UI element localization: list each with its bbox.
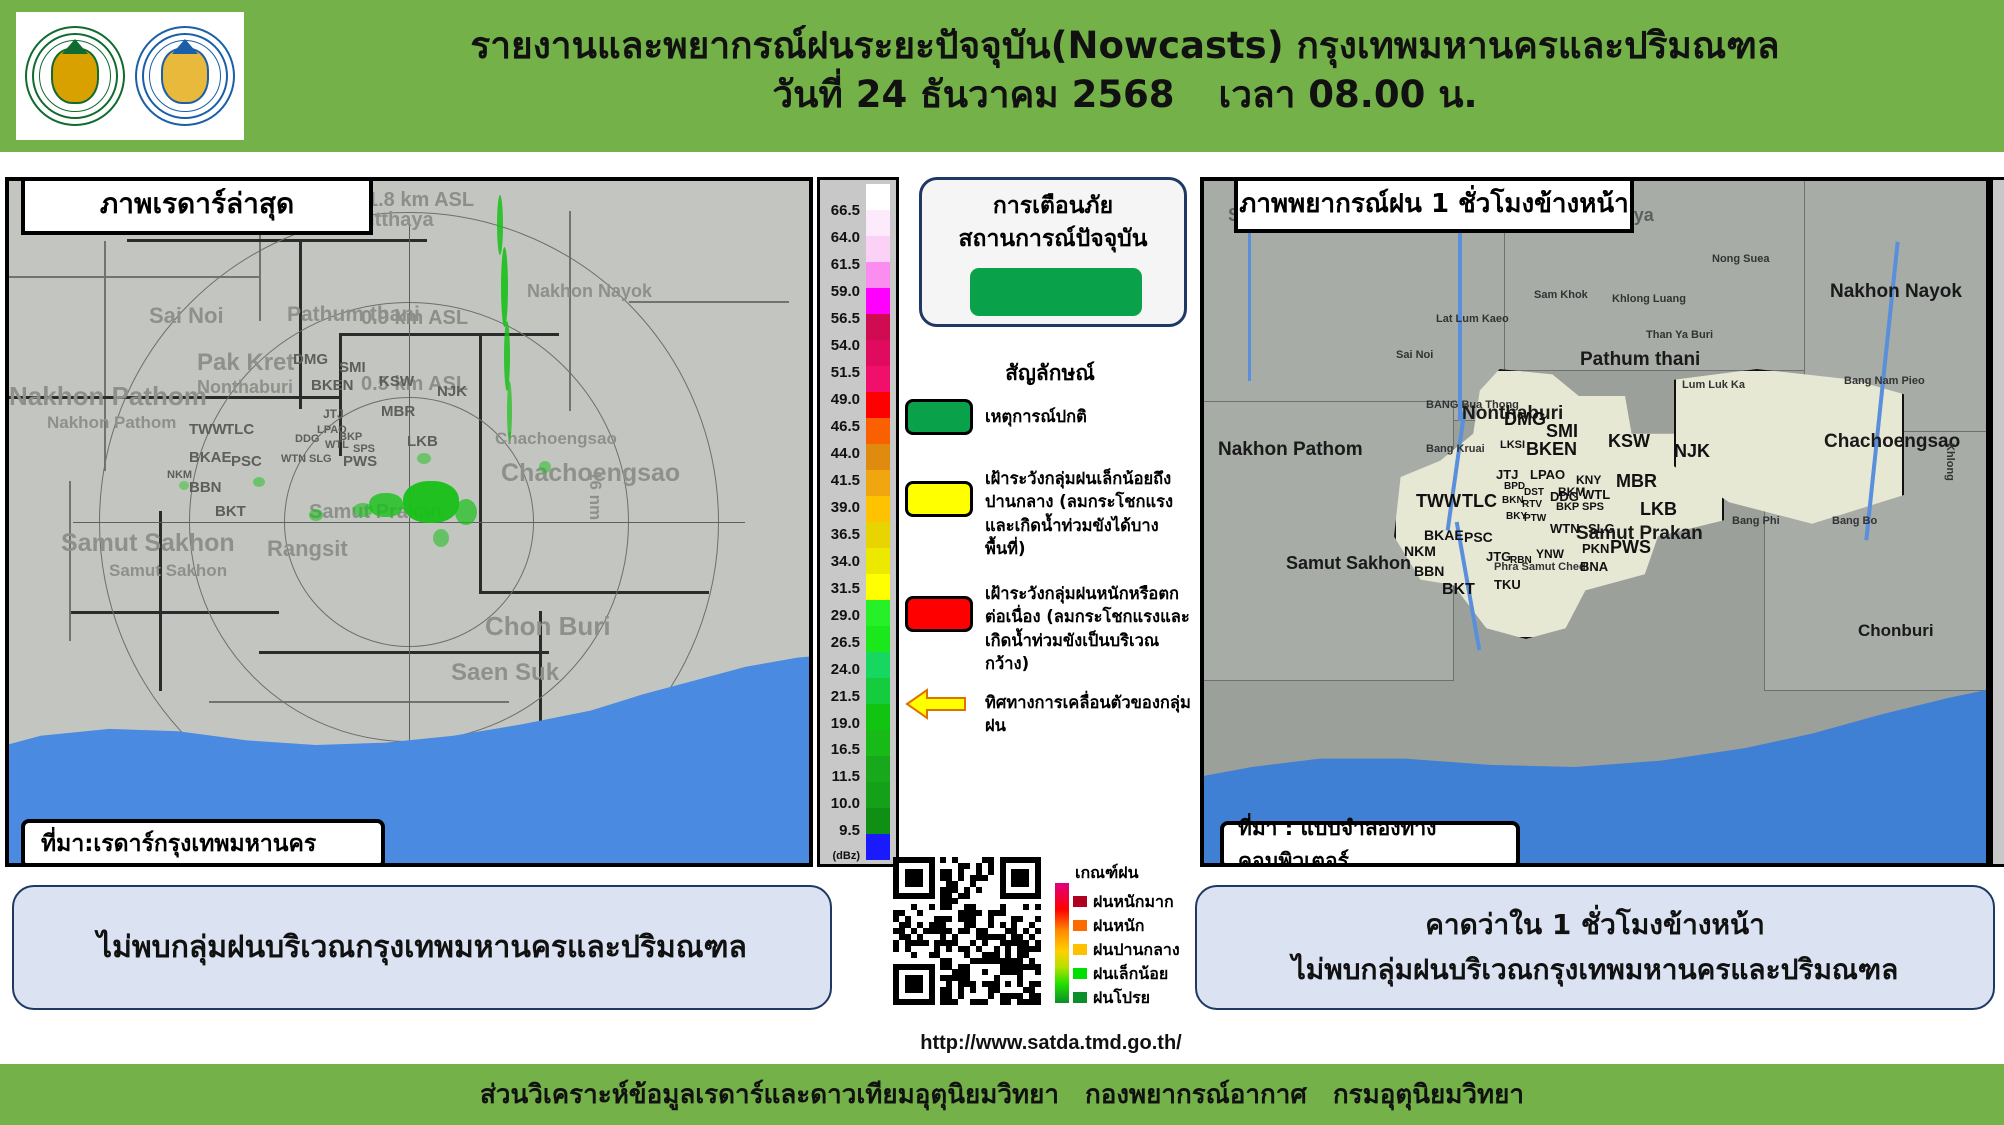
map-label-chonburi: Chonburi — [1858, 621, 1934, 641]
color-scale-tick: 59.0 — [1987, 283, 2004, 300]
district-code-jtj: JTJ — [323, 407, 344, 421]
color-scale-tick: 26.5 — [1987, 634, 2004, 651]
forecast-map: Suphan Buri Phra Nakhon Si Ayutthaya Non… — [1204, 181, 1986, 863]
color-scale-tick: 49.0 — [1987, 391, 2004, 408]
radar-echo — [433, 529, 449, 547]
color-scale-tick: 41.5 — [1987, 472, 2004, 489]
district-code-jtg: JTG — [1486, 549, 1511, 564]
page-title: รายงานและพยากรณ์ฝนระยะปัจจุบัน(Nowcasts)… — [260, 22, 1990, 70]
color-scale-tick: 9.5 — [814, 822, 860, 839]
chao-phraya-river — [1458, 201, 1462, 421]
agency-logos — [16, 12, 244, 140]
radar-echo — [507, 381, 512, 441]
color-scale-tick: 54.0 — [814, 337, 860, 354]
main-content: 1.8 km ASL 0.9 km ASL 0.5 km ASL Suphan … — [0, 152, 2004, 1064]
rain-legend-item: ฝนหนักมาก — [1073, 890, 1203, 914]
map-label-chon-buri: Chon Buri — [485, 611, 611, 642]
radar-panel-source: ที่มา:เรดาร์กรุงเทพมหานคร — [21, 819, 385, 867]
radar-summary-text: ไม่พบกลุ่มฝนบริเวณกรุงเทพมหานครและปริมณฑ… — [97, 924, 747, 972]
district-code-bken: BKEN — [311, 377, 354, 394]
rain-legend-swatch — [1073, 992, 1087, 1003]
radar-echo — [179, 481, 189, 490]
color-scale-tick: 54.0 — [1987, 337, 2004, 354]
color-scale-unit: (dBz) — [1987, 850, 2004, 862]
color-scale-segment — [866, 548, 890, 574]
color-scale-tick: 64.0 — [814, 229, 860, 246]
warning-title-line2: สถานการณ์ปัจจุบัน — [922, 223, 1184, 256]
district-code-nkm: NKM — [167, 469, 192, 481]
map-label-nakhon-pathom: Nakhon Pathom — [9, 381, 207, 412]
warning-card-title: การเตือนภัย สถานการณ์ปัจจุบัน — [922, 190, 1184, 257]
symbols-heading: สัญลักษณ์ — [905, 357, 1195, 390]
map-label-pathum-thani: Pathum thani — [1580, 349, 1700, 371]
district-code-lkb: LKB — [407, 433, 438, 450]
radar-echo — [417, 453, 431, 464]
district-code-bkp: BKP — [339, 431, 362, 443]
color-scale-segment — [866, 418, 890, 444]
district-code-mbr: MBR — [381, 403, 415, 420]
color-scale-tick: 21.5 — [1987, 688, 2004, 705]
forecast-panel-title: ภาพพยากรณ์ฝน 1 ชั่วโมงข้างหน้า — [1234, 177, 1634, 233]
legend-swatch-red — [905, 596, 973, 632]
color-scale-tick: 56.5 — [814, 310, 860, 327]
color-scale-tick: 11.5 — [1987, 768, 2004, 785]
color-scale-segment — [866, 444, 890, 470]
map-label-sam-khok: Sam Khok — [1534, 289, 1588, 301]
map-label-samut-sakhon-2: Samut Sakhon — [109, 561, 227, 581]
forecast-summary-line2: ไม่พบกลุ่มฝนบริเวณกรุงเทพมหานครและปริมณฑ… — [1292, 948, 1899, 993]
color-scale-tick: 24.0 — [1987, 661, 2004, 678]
district-code-bkn: BKN — [1502, 495, 1524, 506]
forecast-panel-source: ที่มา : แบบจำลองทางคอมพิวเตอร์ — [1220, 821, 1520, 867]
district-code-bna: BNA — [1580, 559, 1608, 574]
header-titles: รายงานและพยากรณ์ฝนระยะปัจจุบัน(Nowcasts)… — [260, 22, 1990, 120]
warning-status-card: การเตือนภัย สถานการณ์ปัจจุบัน — [919, 177, 1187, 327]
map-label-samut-sakhon: Samut Sakhon — [61, 529, 235, 558]
district-code-bkp: BKP — [1556, 501, 1579, 513]
district-code-bkae: BKAE — [1424, 527, 1464, 543]
radar-map: 1.8 km ASL 0.9 km ASL 0.5 km ASL Suphan … — [9, 181, 809, 863]
footer-part1: ส่วนวิเคราะห์ข้อมูลเรดาร์และดาวเทียมอุตุ… — [480, 1080, 1059, 1110]
district-code-wtn: WTN — [1550, 521, 1580, 536]
color-scale-tick: 64.0 — [1987, 229, 2004, 246]
page-header: รายงานและพยากรณ์ฝนระยะปัจจุบัน(Nowcasts)… — [0, 0, 2004, 152]
district-code-pkn: PKN — [1582, 541, 1609, 556]
forecast-summary-text: คาดว่าใน 1 ชั่วโมงข้างหน้า ไม่พบกลุ่มฝนบ… — [1292, 903, 1899, 993]
tributary-river — [1248, 221, 1251, 381]
color-scale-segment — [866, 496, 890, 522]
district-code-dmg: DMG — [293, 351, 328, 368]
color-scale-tick: 19.0 — [1987, 715, 2004, 732]
nowcast-page: รายงานและพยากรณ์ฝนระยะปัจจุบัน(Nowcasts)… — [0, 0, 2004, 1125]
status-badge — [970, 268, 1142, 316]
radar-color-scale-left: 66.564.061.559.056.554.051.549.046.544.0… — [817, 177, 899, 867]
district-code-sps: SPS — [353, 443, 375, 455]
map-label-nakhon-pathom: Nakhon Pathom — [1218, 439, 1363, 461]
legend-label-normal: เหตุการณ์ปกติ — [985, 405, 1195, 428]
map-label-bang-phi: Bang Phi — [1732, 515, 1780, 527]
radar-echo — [369, 493, 403, 517]
tmd-seal-green-icon — [23, 24, 127, 128]
rain-legend-gradient — [1055, 883, 1069, 1003]
rain-legend-label: ฝนเล็กน้อย — [1093, 962, 1168, 987]
district-code-bpd: BPD — [1504, 481, 1525, 492]
forecast-summary-box: คาดว่าใน 1 ชั่วโมงข้างหน้า ไม่พบกลุ่มฝนบ… — [1195, 885, 1995, 1010]
color-scale-tick: 59.0 — [814, 283, 860, 300]
district-code-slg: SLG — [309, 453, 332, 465]
rain-legend-label: ฝนหนัก — [1093, 914, 1144, 939]
district-code-tww: TWW — [1416, 491, 1461, 512]
radar-summary-box: ไม่พบกลุ่มฝนบริเวณกรุงเทพมหานครและปริมณฑ… — [12, 885, 832, 1010]
map-label-saen-suk: Saen Suk — [451, 659, 559, 687]
color-scale-segment — [866, 756, 890, 782]
tmd-seal-blue-icon — [133, 24, 237, 128]
color-scale-tick: 46.5 — [1987, 418, 2004, 435]
color-scale-segment — [866, 600, 890, 626]
color-scale-tick: 51.5 — [1987, 364, 2004, 381]
radar-image-panel[interactable]: 1.8 km ASL 0.9 km ASL 0.5 km ASL Suphan … — [5, 177, 813, 867]
forecast-summary-line1: คาดว่าใน 1 ชั่วโมงข้างหน้า — [1292, 903, 1899, 948]
rain-criteria-legend: เกณฑ์ฝน ฝนหนักมากฝนหนักฝนปานกลางฝนเล็กน้… — [1053, 861, 1203, 1010]
district-code-njk: NJK — [437, 383, 467, 400]
radar-echo — [309, 509, 323, 521]
color-scale-tick: 56.5 — [1987, 310, 2004, 327]
district-code-ksw: KSW — [379, 373, 414, 390]
color-scale-segment — [866, 678, 890, 704]
district-code-lpao: LPAO — [1530, 467, 1565, 482]
district-code-ksw: KSW — [1608, 431, 1650, 452]
district-code-njk: NJK — [1674, 441, 1710, 462]
map-label-bang-kruai: Bang Kruai — [1426, 443, 1485, 455]
color-scale-segment — [866, 626, 890, 652]
color-scale-tick: 39.0 — [1987, 499, 2004, 516]
map-label-chachoengsao: Chachoengsao — [1824, 431, 1960, 453]
color-scale-tick: 51.5 — [814, 364, 860, 381]
rain-legend-item: ฝนปานกลาง — [1073, 938, 1203, 962]
color-scale-tick: 44.0 — [814, 445, 860, 462]
color-scale-tick: 34.0 — [1987, 553, 2004, 570]
district-code-dst: DST — [1524, 487, 1544, 498]
color-scale-tick: 29.0 — [1987, 607, 2004, 624]
color-scale-tick: 21.5 — [814, 688, 860, 705]
header-date: วันที่ 24 ธันวาคม 2568 — [772, 73, 1174, 116]
rain-legend-label: ฝนปานกลาง — [1093, 938, 1180, 963]
color-scale-segment — [866, 782, 890, 808]
district-code-lkb: LKB — [1640, 499, 1677, 520]
district-code-smi: SMI — [339, 359, 366, 376]
rain-legend-swatch — [1073, 896, 1087, 907]
color-scale-tick: 29.0 — [814, 607, 860, 624]
map-label-rangsit: Rangsit — [267, 536, 348, 562]
district-code-ynw: YNW — [1536, 547, 1564, 561]
color-scale-unit: (dBz) — [814, 850, 860, 862]
map-label-nakhon-nayok: Nakhon Nayok — [1830, 281, 1962, 303]
district-code-rtv: RTV — [1522, 499, 1542, 510]
color-scale-tick: 16.5 — [814, 741, 860, 758]
district-code-bbn: BBN — [189, 479, 222, 496]
color-scale-tick: 10.0 — [814, 795, 860, 812]
map-label-khlong: Khlong — [1944, 443, 1956, 481]
color-scale-tick: 24.0 — [814, 661, 860, 678]
rain-legend-swatch — [1073, 920, 1087, 931]
map-label-nong-suea: Nong Suea — [1712, 253, 1769, 265]
district-code-wtn: WTN — [281, 453, 306, 465]
color-scale-tick: 41.5 — [814, 472, 860, 489]
forecast-image-panel[interactable]: Suphan Buri Phra Nakhon Si Ayutthaya Non… — [1200, 177, 1990, 867]
color-scale-segment — [866, 366, 890, 392]
color-scale-segment — [866, 704, 890, 730]
district-code-ddg: DDG — [295, 433, 319, 445]
map-label-nakhon-nayok: Nakhon Nayok — [527, 281, 652, 302]
rain-legend-item: ฝนเล็กน้อย — [1073, 962, 1203, 986]
rain-legend-item: ฝนโปรย — [1073, 986, 1203, 1010]
radar-echo — [403, 481, 459, 523]
color-scale-tick: 11.5 — [814, 768, 860, 785]
legend-swatch-yellow — [905, 481, 973, 517]
map-label-bang-bo: Bang Bo — [1832, 515, 1877, 527]
map-label-khlong-luang: Khlong Luang — [1612, 293, 1686, 305]
district-code-bkt: BKT — [215, 503, 246, 520]
footer-part2: กองพยากรณ์อากาศ — [1085, 1080, 1307, 1110]
district-code-psc: PSC — [231, 453, 262, 470]
district-code-pws: PWS — [343, 453, 377, 470]
header-time: เวลา 08.00 น. — [1219, 73, 1478, 116]
district-code-ptw: PTW — [1524, 513, 1546, 524]
color-scale-tick: 16.5 — [1987, 741, 2004, 758]
color-scale-tick: 36.5 — [814, 526, 860, 543]
color-scale-segment — [866, 184, 890, 210]
radar-echo — [497, 195, 503, 255]
color-scale-tick: 31.5 — [814, 580, 860, 597]
district-code-psc: PSC — [1464, 529, 1493, 545]
radar-echo — [353, 503, 373, 517]
radar-echo — [539, 461, 551, 473]
color-scale-segment — [866, 470, 890, 496]
rain-legend-title: เกณฑ์ฝน — [1075, 861, 1203, 886]
center-legend-column: การเตือนภัย สถานการณ์ปัจจุบัน สัญลักษณ์ … — [905, 177, 1195, 1067]
map-label-than-ya-buri: Than Ya Buri — [1646, 329, 1713, 341]
footer-text: ส่วนวิเคราะห์ข้อมูลเรดาร์และดาวเทียมอุตุ… — [480, 1074, 1524, 1115]
qr-code[interactable] — [893, 857, 1043, 1005]
color-scale-segment — [866, 834, 890, 860]
district-code-nkm: NKM — [1404, 543, 1436, 559]
rain-legend-swatch — [1073, 968, 1087, 979]
color-scale-segment — [866, 392, 890, 418]
color-scale-segment — [866, 288, 890, 314]
color-scale-segment — [866, 652, 890, 678]
color-scale-tick: 44.0 — [1987, 445, 2004, 462]
color-scale-tick: 61.5 — [814, 256, 860, 273]
map-label-sai-noi: Sai Noi — [1396, 349, 1433, 361]
map-label-pathum-thani: Pathum thani — [287, 303, 420, 327]
color-scale-tick: 10.0 — [1987, 795, 2004, 812]
district-code-lksi: LKSI — [1500, 439, 1525, 451]
color-scale-segment — [866, 314, 890, 340]
map-label-lum-luk-ka: Lum Luk Ka — [1682, 379, 1745, 391]
map-label-pak-kret: Pak Kret — [197, 349, 294, 377]
rain-legend-label: ฝนโปรย — [1093, 986, 1150, 1011]
map-label-sai-noi: Sai Noi — [149, 303, 224, 329]
radar-panel-title: ภาพเรดาร์ล่าสุด — [21, 177, 373, 235]
color-scale-tick: 9.5 — [1987, 822, 2004, 839]
color-scale-tick: 26.5 — [814, 634, 860, 651]
radar-echo — [501, 247, 508, 327]
color-scale-tick: 61.5 — [1987, 256, 2004, 273]
color-scale-segment — [866, 522, 890, 548]
radar-color-scale-right: 66.564.061.559.056.554.051.549.046.544.0… — [1990, 177, 2004, 867]
map-label-nakhon-pathom-2: Nakhon Pathom — [47, 413, 176, 433]
qr-and-rain-legend: เกณฑ์ฝน ฝนหนักมากฝนหนักฝนปานกลางฝนเล็กน้… — [893, 857, 1203, 1037]
district-code-wtl: WTL — [1582, 487, 1610, 502]
district-code-tlc: TLC — [225, 421, 254, 438]
district-code-jtj: JTJ — [1496, 467, 1518, 482]
district-code-tww: TWW — [189, 421, 226, 438]
map-label-lat-lum-kaeo: Lat Lum Kaeo — [1436, 313, 1509, 325]
color-scale-tick: 31.5 — [1987, 580, 2004, 597]
color-scale-tick: 46.5 — [814, 418, 860, 435]
color-scale-tick: 19.0 — [814, 715, 860, 732]
color-scale-segment — [866, 262, 890, 288]
legend-swatch-green — [905, 399, 973, 435]
legend-label-watch-heavy: เฝ้าระวังกลุ่มฝนหนักหรือตกต่อเนื่อง (ลมก… — [985, 582, 1195, 676]
footer-part3: กรมอุตุนิยมวิทยา — [1333, 1080, 1524, 1110]
district-code-pws: PWS — [1610, 537, 1651, 558]
district-code-bbn: BBN — [1414, 563, 1444, 579]
color-scale-tick: 49.0 — [814, 391, 860, 408]
color-scale-segment — [866, 730, 890, 756]
color-scale-segment — [866, 210, 890, 236]
color-scale-segment — [866, 574, 890, 600]
map-label-nonthaburi: Nonthaburi — [197, 377, 293, 398]
color-scale-tick: 34.0 — [814, 553, 860, 570]
satda-url[interactable]: http://www.satda.tmd.go.th/ — [891, 1032, 1211, 1055]
district-code-bken: BKEN — [1526, 439, 1577, 460]
map-label-chachoengsao: Chachoengsao — [495, 429, 617, 449]
district-code-bkt: BKT — [1442, 581, 1475, 599]
color-scale-tick: 36.5 — [1987, 526, 2004, 543]
district-code-tlc: TLC — [1462, 491, 1497, 512]
page-footer: ส่วนวิเคราะห์ข้อมูลเรดาร์และดาวเทียมอุตุ… — [0, 1064, 2004, 1125]
legend-label-watch-light-moderate: เฝ้าระวังกลุ่มฝนเล็กน้อยถึงปานกลาง (ลมกร… — [985, 467, 1195, 561]
color-scale-tick: 66.5 — [814, 202, 860, 219]
color-scale-tick: 39.0 — [814, 499, 860, 516]
rain-legend-item: ฝนหนัก — [1073, 914, 1203, 938]
left-arrow-icon — [905, 687, 967, 721]
range-label-16nm: 16 nm — [585, 471, 605, 520]
map-label-samut-sakhon: Samut Sakhon — [1286, 553, 1411, 574]
color-scale-segment — [866, 236, 890, 262]
header-datetime: วันที่ 24 ธันวาคม 2568เวลา 08.00 น. — [260, 70, 1990, 120]
district-code-bkae: BKAE — [189, 449, 232, 466]
radar-echo — [253, 477, 265, 487]
district-code-dmg: DMG — [1504, 409, 1546, 430]
district-code-slg: SLG — [1588, 521, 1615, 536]
warning-title-line1: การเตือนภัย — [922, 190, 1184, 223]
color-scale-segment — [866, 808, 890, 834]
district-code-tku: TKU — [1494, 577, 1521, 592]
color-scale-tick: 66.5 — [1987, 202, 2004, 219]
color-scale-segment — [866, 340, 890, 366]
map-label-bang-nam-pieo: Bang Nam Pieo — [1844, 375, 1925, 387]
district-code-mbr: MBR — [1616, 471, 1657, 492]
color-scale-bar — [866, 184, 890, 860]
rain-legend-swatch — [1073, 944, 1087, 955]
radar-echo — [455, 499, 477, 525]
district-code-rbn: RBN — [1510, 555, 1532, 566]
rain-legend-label: ฝนหนักมาก — [1093, 890, 1174, 915]
legend-label-movement-direction: ทิศทางการเคลื่อนตัวของกลุ่มฝน — [985, 691, 1195, 738]
district-code-sps: SPS — [1582, 501, 1604, 513]
